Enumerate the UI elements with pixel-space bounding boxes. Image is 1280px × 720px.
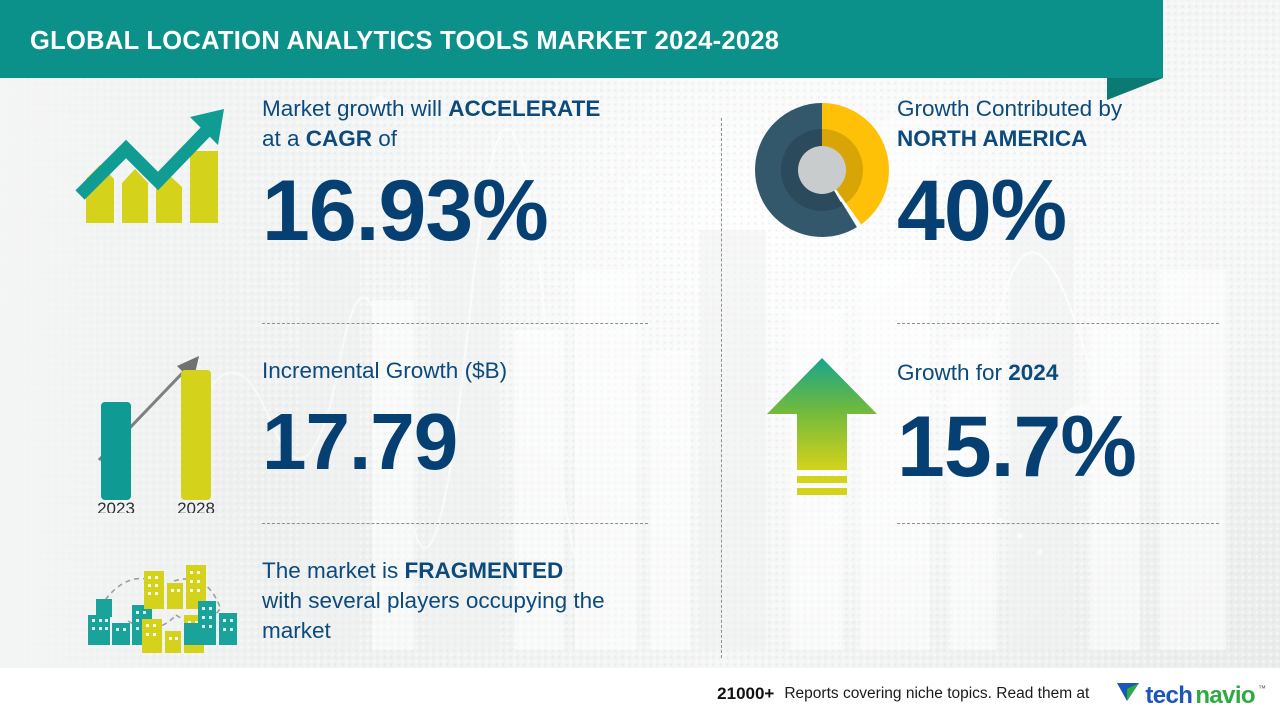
yearly-growth-label: Growth for — [897, 360, 1008, 385]
cagr-headline-cagr: CAGR — [306, 126, 372, 151]
bar-label-2028: 2028 — [177, 499, 215, 513]
left-column: Market growth will ACCELERATE at a CAGR … — [0, 78, 721, 668]
reports-count: 21000+ — [717, 684, 774, 704]
donut-chart-icon — [739, 100, 904, 240]
regional-contribution-headline: Growth Contributed by NORTH AMERICA — [897, 94, 1267, 154]
triangle-arrow-mark — [1115, 679, 1141, 703]
regional-headline-line1: Growth Contributed by — [897, 96, 1122, 121]
yearly-growth-text-cell: Growth for 2024 15.7% — [897, 358, 1267, 490]
cagr-headline-part3: of — [372, 126, 397, 151]
fragmentation-headline: The market is FRAGMENTED with several pl… — [262, 556, 702, 646]
regional-headline-region: NORTH AMERICA — [897, 126, 1087, 151]
cagr-value: 16.93% — [262, 168, 692, 254]
cagr-headline: Market growth will ACCELERATE at a CAGR … — [262, 94, 692, 154]
city-clusters-icon — [62, 546, 257, 656]
footer-content: 21000+ Reports covering niche topics. Re… — [717, 668, 1266, 720]
yearly-growth-headline: Growth for 2024 — [897, 358, 1267, 388]
fragmentation-bold: FRAGMENTED — [405, 558, 564, 583]
block-cagr: Market growth will ACCELERATE at a CAGR … — [0, 78, 721, 248]
incremental-growth-headline: Incremental Growth ($B) — [262, 356, 692, 386]
fragmentation-line3: market — [262, 618, 331, 643]
bar-comparison-icon: 2023 2028 — [62, 338, 257, 513]
logo-trademark: ™ — [1258, 684, 1266, 693]
regional-contribution-value: 40% — [897, 168, 1267, 254]
footer-tagline: Reports covering niche topics. Read them… — [784, 685, 1089, 703]
header-banner: GLOBAL LOCATION ANALYTICS TOOLS MARKET 2… — [0, 0, 1163, 78]
yearly-growth-value: 15.7% — [897, 404, 1267, 490]
left-divider-1 — [262, 323, 648, 324]
right-column: Growth Contributed by NORTH AMERICA 40% — [721, 78, 1280, 668]
right-divider-1 — [897, 323, 1219, 324]
fragmentation-text-cell: The market is FRAGMENTED with several pl… — [262, 556, 702, 646]
block-yearly-growth: Growth for 2024 15.7% — [721, 328, 1280, 518]
page-title: GLOBAL LOCATION ANALYTICS TOOLS MARKET 2… — [30, 27, 779, 56]
block-incremental-growth: 2023 2028 Incremental Growth ($B) 17.79 — [0, 328, 721, 518]
incremental-growth-text-cell: Incremental Growth ($B) 17.79 — [262, 356, 692, 482]
right-divider-2 — [897, 523, 1219, 524]
fragmentation-line2: with several players occupying the — [262, 588, 605, 613]
block-fragmentation: The market is FRAGMENTED with several pl… — [0, 528, 721, 668]
bar-label-2023: 2023 — [97, 499, 135, 513]
cagr-text-cell: Market growth will ACCELERATE at a CAGR … — [262, 94, 692, 254]
left-divider-2 — [262, 523, 648, 524]
logo-word-navio: navio — [1195, 682, 1255, 710]
cagr-headline-part2: at a — [262, 126, 306, 151]
logo-word-tech: tech — [1145, 682, 1192, 710]
up-arrow-gradient-icon — [739, 346, 904, 511]
regional-contribution-text-cell: Growth Contributed by NORTH AMERICA 40% — [897, 94, 1267, 254]
cagr-headline-part1: Market growth will — [262, 96, 448, 121]
content-area: Market growth will ACCELERATE at a CAGR … — [0, 78, 1280, 668]
growth-arrow-chart-icon — [62, 100, 257, 235]
yearly-growth-year: 2024 — [1008, 360, 1058, 385]
infographic-poster: GLOBAL LOCATION ANALYTICS TOOLS MARKET 2… — [0, 0, 1280, 720]
cagr-headline-accelerate: ACCELERATE — [448, 96, 600, 121]
footer-bar: 21000+ Reports covering niche topics. Re… — [0, 668, 1280, 720]
incremental-growth-value: 17.79 — [262, 402, 692, 482]
block-regional-contribution: Growth Contributed by NORTH AMERICA 40% — [721, 78, 1280, 248]
fragmentation-part1: The market is — [262, 558, 405, 583]
technavio-logo[interactable]: technavio™ — [1115, 679, 1266, 710]
